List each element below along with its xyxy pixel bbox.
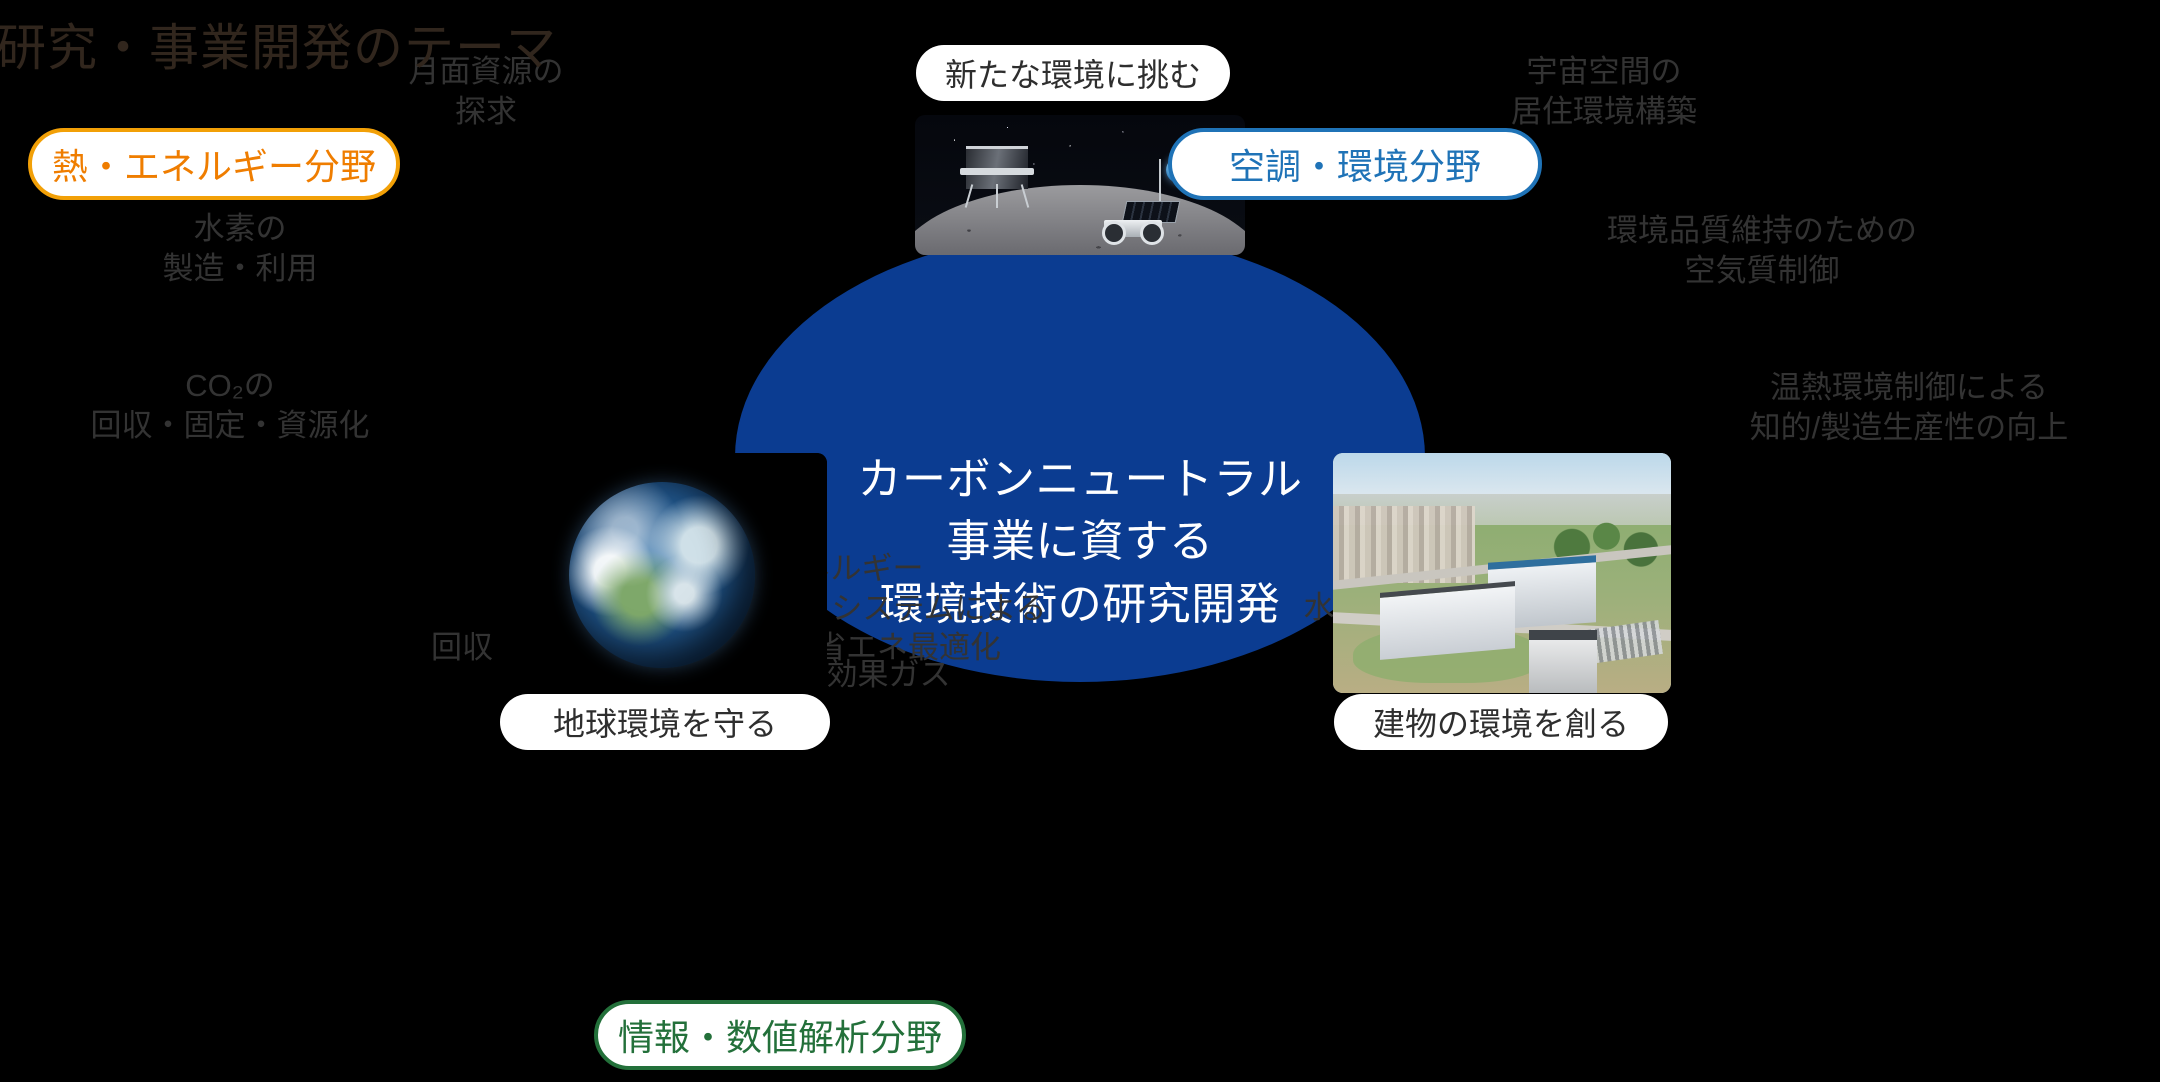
lunar-rover-icon: [1100, 207, 1184, 247]
field-label: 情報・数値解析分野: [618, 1009, 942, 1061]
theme-line: 探求: [366, 92, 606, 132]
caption-label: 建物の環境を創る: [1373, 699, 1629, 745]
field-label: 熱・エネルギー分野: [52, 138, 376, 190]
theme-line: 回収・固定・資源化: [60, 406, 400, 446]
field-pill-air-environment[interactable]: 空調・環境分野: [1168, 128, 1542, 200]
theme-line: 宇宙空間の: [1459, 52, 1749, 92]
theme-co2-capture: CO₂の 回収・固定・資源化: [60, 366, 400, 445]
field-pill-heat-energy[interactable]: 熱・エネルギー分野: [28, 128, 400, 200]
theme-air-quality: 環境品質維持のための 空気質制御: [1597, 211, 1927, 290]
venn-diagram-canvas: カーボンニュートラル 事業に資する 環境技術の研究開発 研究・事業開発のテーマ: [0, 0, 2160, 1082]
theme-line: 居住環境構築: [1459, 92, 1749, 132]
theme-line: 水素の: [115, 209, 365, 249]
theme-line: 空気質制御: [1597, 251, 1927, 291]
lunar-lander-icon: [958, 146, 1038, 208]
theme-line: 環境品質維持のための: [1597, 211, 1927, 251]
theme-line: 製造・利用: [115, 249, 365, 289]
caption-create-bldg-env[interactable]: 建物の環境を創る: [1334, 694, 1668, 750]
photo-research-campus: [1333, 453, 1671, 693]
caption-label: 地球環境を守る: [553, 699, 777, 745]
field-pill-info-analysis[interactable]: 情報・数値解析分野: [594, 1000, 966, 1070]
theme-line: 知的/製造生産性の向上: [1709, 408, 2109, 448]
theme-line: CO₂の: [60, 366, 400, 406]
theme-line: 温熱環境制御による: [1709, 368, 2109, 408]
photo-earth-globe: [497, 453, 827, 696]
campus-background: [1333, 453, 1671, 693]
caption-protect-earth[interactable]: 地球環境を守る: [500, 694, 830, 750]
theme-space-habitat: 宇宙空間の 居住環境構築: [1459, 52, 1749, 131]
page-title: 研究・事業開発のテーマ: [0, 8, 557, 80]
theme-hydrogen: 水素の 製造・利用: [115, 209, 365, 288]
caption-challenge-new-env[interactable]: 新たな環境に挑む: [916, 45, 1230, 101]
earth-globe-icon: [569, 482, 755, 668]
field-label: 空調・環境分野: [1229, 138, 1481, 190]
caption-label: 新たな環境に挑む: [945, 50, 1201, 96]
theme-thermal-comfort: 温熱環境制御による 知的/製造生産性の向上: [1709, 368, 2109, 447]
